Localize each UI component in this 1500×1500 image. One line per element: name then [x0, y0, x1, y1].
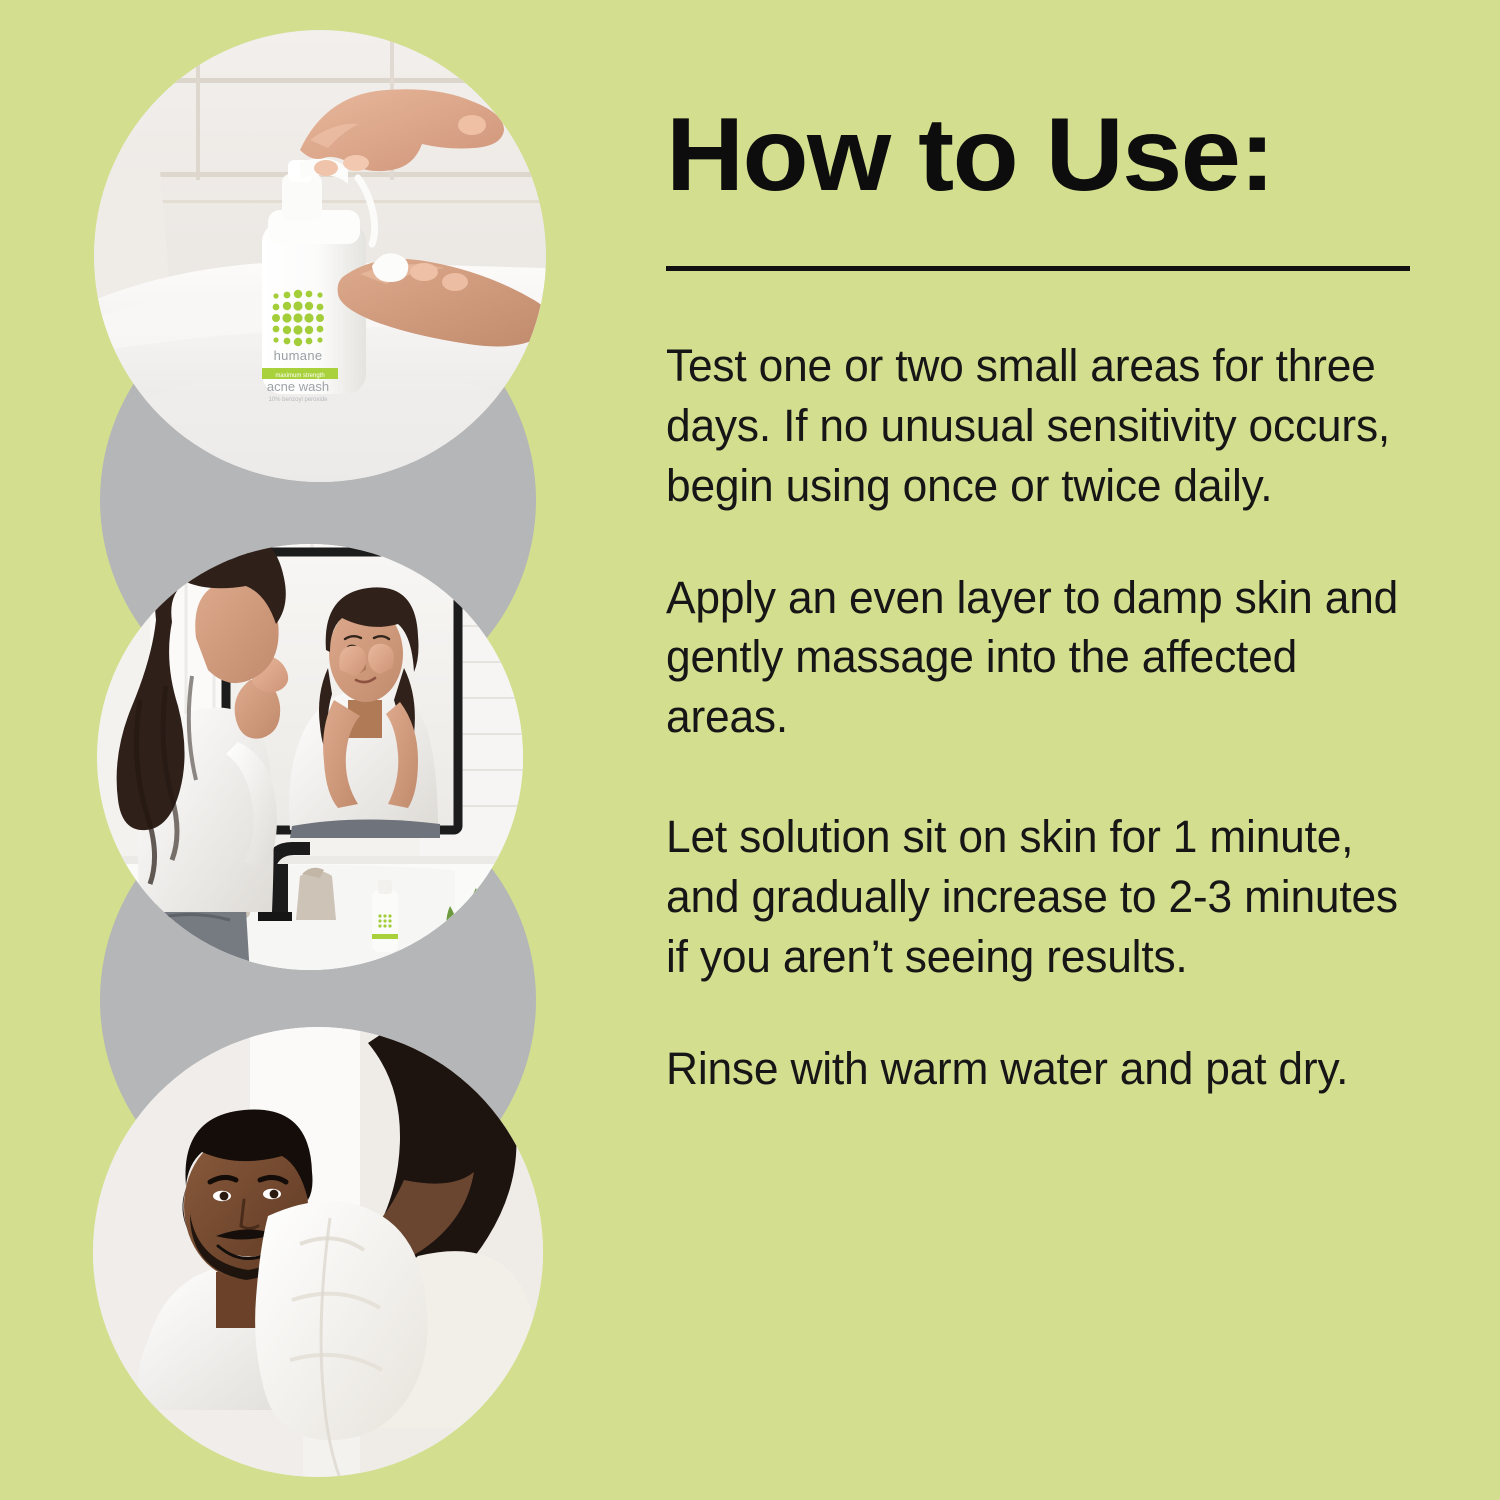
step-item-2: Apply an even layer to damp skin and gen… [666, 568, 1415, 748]
how-to-use-infographic: humane maximum strength acne wash 10% be… [0, 0, 1500, 1500]
step-item-3: Let solution sit on skin for 1 minute, a… [666, 807, 1415, 987]
steps-list: Test one or two small areas for three da… [666, 336, 1426, 1098]
page-title: How to Use: [666, 103, 1274, 207]
title-divider [666, 266, 1410, 271]
step-item-1: Test one or two small areas for three da… [666, 336, 1415, 516]
step-item-4: Rinse with warm water and pat dry. [666, 1039, 1415, 1099]
photo-column: humane maximum strength acne wash 10% be… [0, 0, 620, 1500]
photo-pat-dry [93, 1027, 543, 1478]
svg-text:acne wash: acne wash [267, 379, 329, 394]
svg-text:10% benzoyl peroxide: 10% benzoyl peroxide [268, 397, 328, 403]
instructions-column: How to Use: Test one or two small areas … [666, 0, 1456, 1500]
svg-text:humane: humane [274, 348, 323, 363]
counter-product-bottle [372, 880, 398, 952]
